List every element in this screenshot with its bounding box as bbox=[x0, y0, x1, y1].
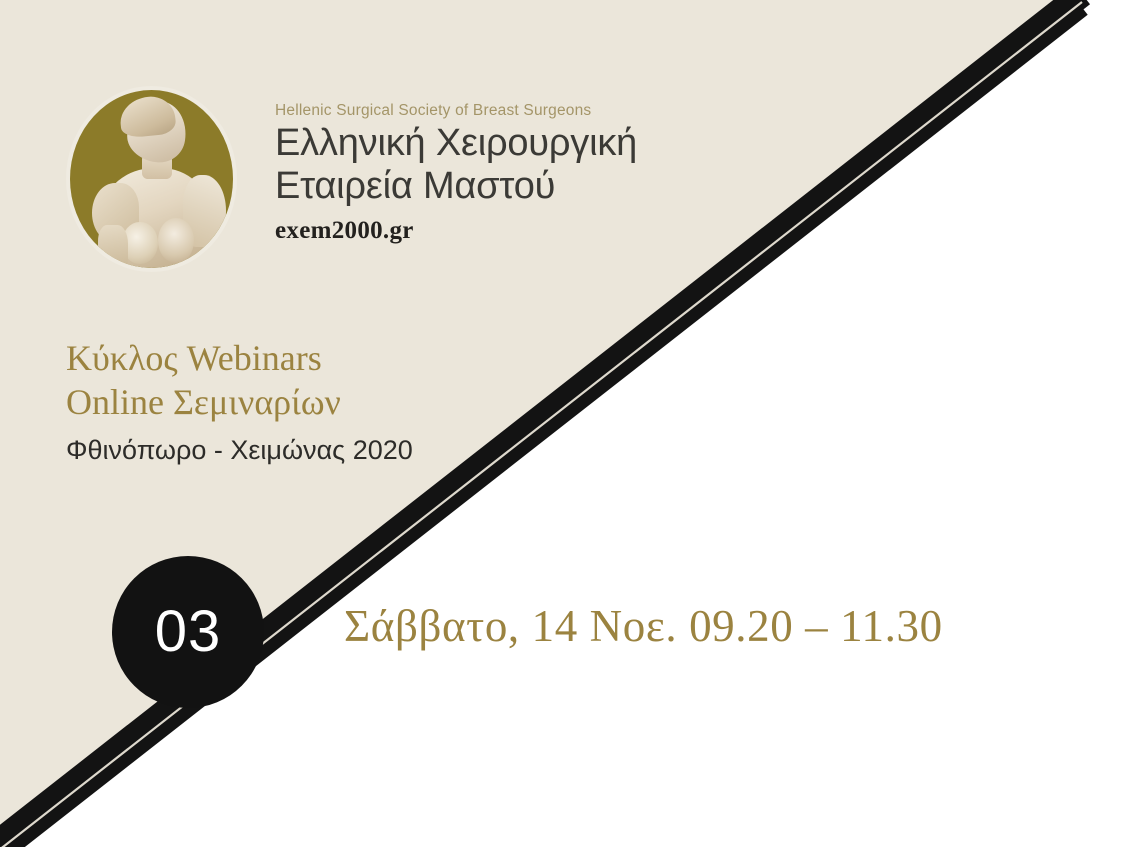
session-number-badge: 03 bbox=[112, 556, 264, 708]
venus-arm-stump bbox=[98, 225, 128, 268]
logo-lockup: Hellenic Surgical Society of Breast Surg… bbox=[70, 88, 710, 278]
session-number-label: 03 bbox=[155, 603, 222, 661]
society-name-greek-line1: Ελληνική Χειρουργική bbox=[275, 122, 705, 165]
headline-block: Κύκλος Webinars Online Σεμιναρίων Φθινόπ… bbox=[66, 337, 706, 466]
venus-hair bbox=[118, 94, 177, 139]
session-datetime: Σάββατο, 14 Νοε. 09.20 – 11.30 bbox=[344, 600, 943, 652]
society-medallion-icon bbox=[70, 90, 233, 268]
society-name-greek-line2: Εταιρεία Μαστού bbox=[275, 165, 705, 208]
logo-text-group: Hellenic Surgical Society of Breast Surg… bbox=[275, 88, 705, 245]
webinar-poster: Hellenic Surgical Society of Breast Surg… bbox=[0, 0, 1130, 847]
society-website[interactable]: exem2000.gr bbox=[275, 217, 705, 245]
medallion-clip bbox=[70, 90, 233, 268]
headline-subtitle: Φθινόπωρο - Χειμώνας 2020 bbox=[66, 435, 706, 466]
society-name-english: Hellenic Surgical Society of Breast Surg… bbox=[275, 102, 705, 120]
headline-line-2: Online Σεμιναρίων bbox=[66, 381, 706, 425]
venus-bust-right bbox=[158, 218, 194, 263]
headline-line-1: Κύκλος Webinars bbox=[66, 337, 706, 381]
venus-de-milo-icon bbox=[90, 97, 227, 268]
